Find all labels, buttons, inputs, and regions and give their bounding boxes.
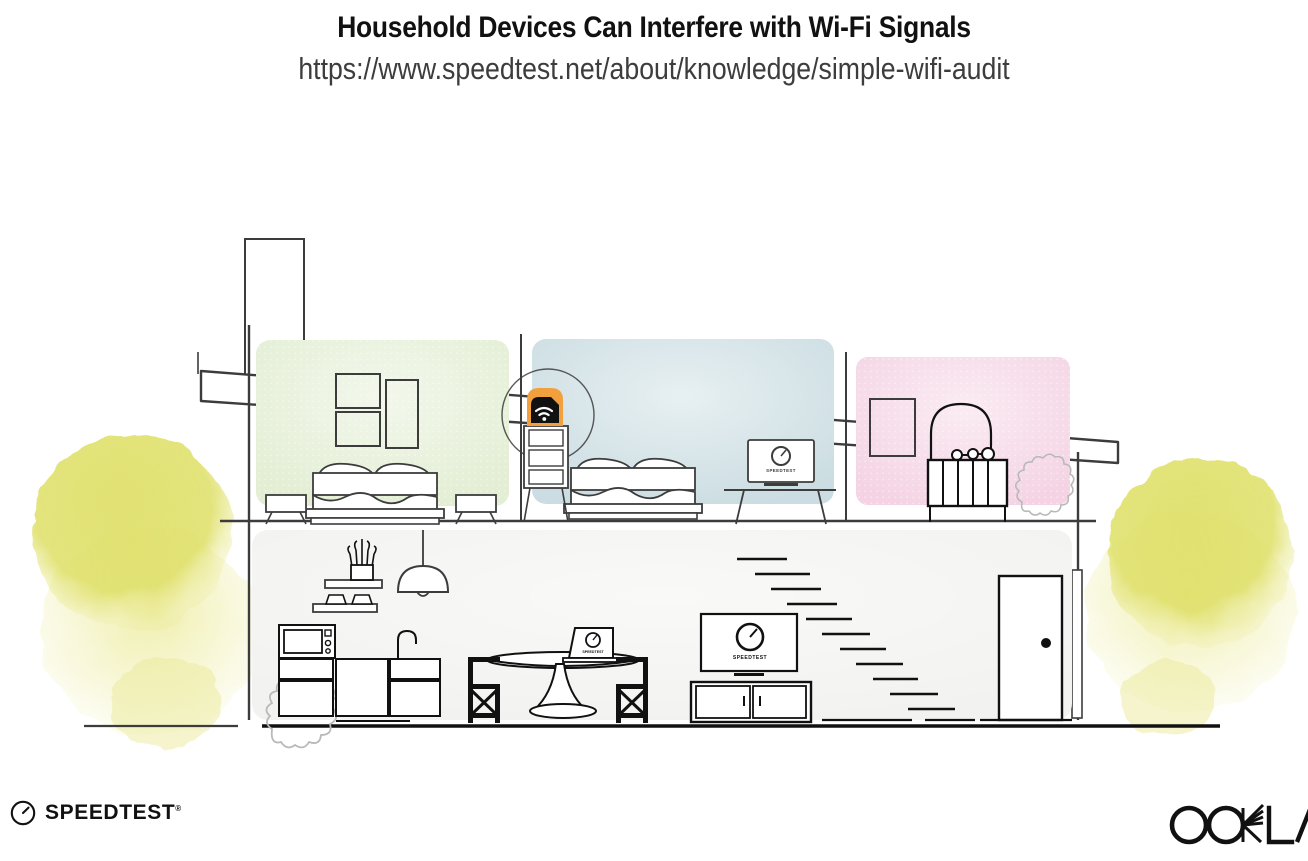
- foliage-right: [1085, 457, 1295, 735]
- kitchen-counter: [279, 659, 440, 716]
- speedtest-gauge-icon: [10, 800, 36, 826]
- microwave[interactable]: [279, 625, 335, 658]
- house-cutaway-svg: SPEEDTEST: [0, 112, 1308, 752]
- tv-screen-label: SPEEDTEST: [733, 655, 767, 661]
- bed-blue-room: [564, 459, 702, 519]
- shelf-unit: [524, 426, 568, 522]
- ookla-wordmark-icon: [1164, 802, 1308, 848]
- room-ground-floor: SPEEDTEST: [252, 530, 1072, 752]
- front-door[interactable]: [999, 576, 1062, 720]
- house-illustration: SPEEDTEST: [0, 112, 1308, 752]
- speedtest-logo: SPEEDTEST®: [10, 800, 182, 826]
- room-upstairs-bedroom-blue: SPEEDTEST: [502, 339, 836, 524]
- laptop-screen-label: SPEEDTEST: [582, 650, 604, 654]
- registered-mark: ®: [175, 804, 182, 813]
- crib: [928, 460, 1007, 522]
- media-console: [691, 682, 811, 722]
- speedtest-wordmark: SPEEDTEST®: [45, 801, 182, 825]
- monitor-screen-label: SPEEDTEST: [766, 468, 796, 473]
- wall-shelf-upper: [325, 580, 382, 588]
- nightstand-left: [266, 495, 306, 524]
- page-title: Household Devices Can Interfere with Wi-…: [78, 0, 1229, 45]
- monitor: SPEEDTEST: [748, 440, 814, 486]
- nightstand-right: [456, 495, 496, 524]
- source-url: https://www.speedtest.net/about/knowledg…: [92, 45, 1217, 87]
- foliage-left: [32, 434, 260, 747]
- bed-green-room: [306, 464, 444, 524]
- room-upstairs-bedroom-green: [256, 340, 516, 524]
- header: Household Devices Can Interfere with Wi-…: [0, 0, 1308, 87]
- poster-canvas: Household Devices Can Interfere with Wi-…: [0, 0, 1308, 861]
- door-knob[interactable]: [1041, 638, 1051, 648]
- wifi-router[interactable]: [527, 388, 563, 426]
- ookla-logo: [1164, 802, 1308, 853]
- television[interactable]: SPEEDTEST: [701, 614, 797, 676]
- footer: SPEEDTEST®: [0, 780, 1308, 861]
